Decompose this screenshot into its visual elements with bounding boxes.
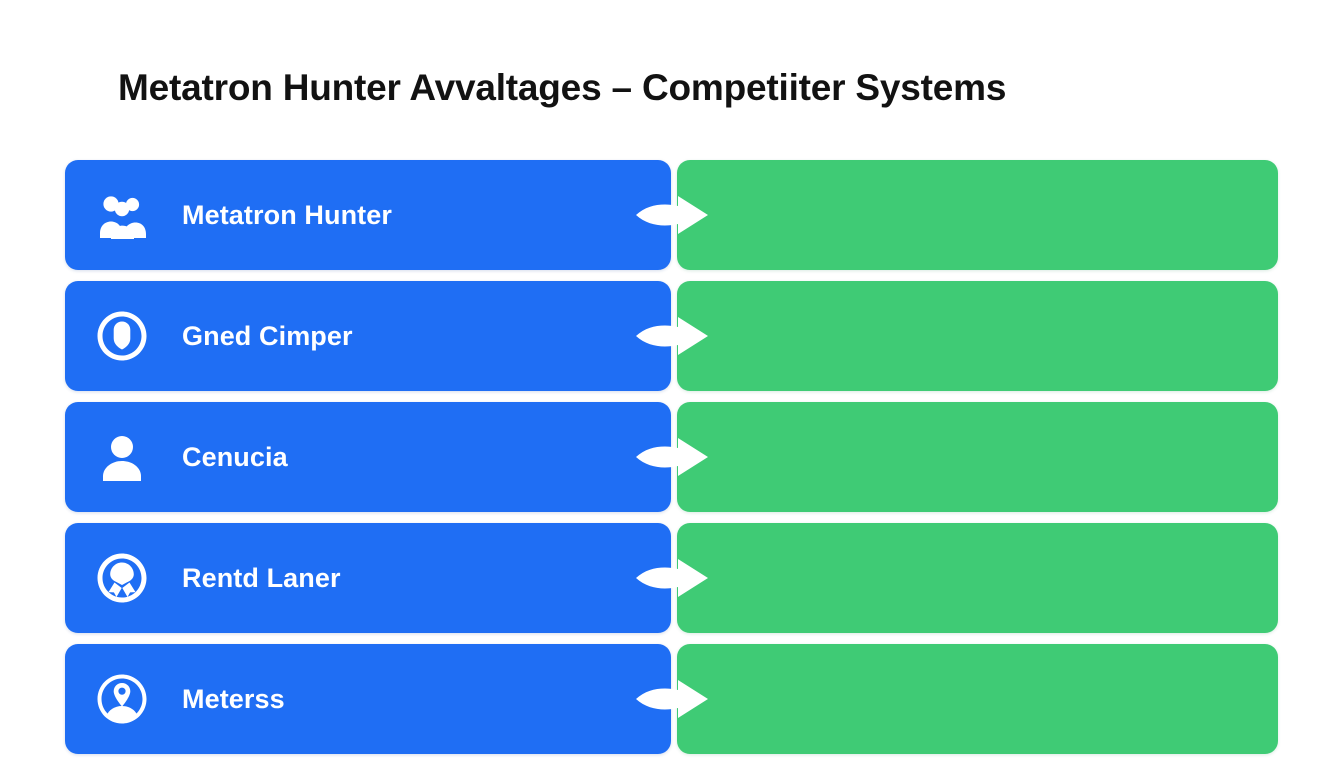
row-right-panel[interactable]: [677, 160, 1278, 270]
row-left-label: Meterss: [182, 684, 285, 715]
shield-badge-circle-icon: [96, 310, 148, 362]
comparison-rows: Metatron Hunter Gned Cimper: [0, 160, 1344, 765]
row-right-panel[interactable]: [677, 523, 1278, 633]
row-left-panel[interactable]: Rentd Laner: [65, 523, 671, 633]
comparison-row: Metatron Hunter: [0, 160, 1344, 270]
page-title: Metatron Hunter Avvaltages – Competiiter…: [118, 60, 1238, 116]
row-left-label: Cenucia: [182, 442, 288, 473]
row-left-panel[interactable]: Meterss: [65, 644, 671, 754]
row-left-label: Metatron Hunter: [182, 200, 392, 231]
row-left-panel[interactable]: Gned Cimper: [65, 281, 671, 391]
row-left-panel[interactable]: Metatron Hunter: [65, 160, 671, 270]
row-left-label: Gned Cimper: [182, 321, 353, 352]
row-left-panel[interactable]: Cenucia: [65, 402, 671, 512]
comparison-row: Cenucia: [0, 402, 1344, 512]
ribbon-award-circle-icon: [96, 552, 148, 604]
comparison-row: Rentd Laner: [0, 523, 1344, 633]
diagram-canvas: Metatron Hunter Avvaltages – Competiiter…: [0, 0, 1344, 768]
row-right-panel[interactable]: [677, 402, 1278, 512]
people-group-icon: [96, 189, 148, 241]
row-right-panel[interactable]: [677, 281, 1278, 391]
comparison-row: Meterss: [0, 644, 1344, 754]
row-left-label: Rentd Laner: [182, 563, 341, 594]
person-location-pin-icon: [96, 673, 148, 725]
comparison-row: Gned Cimper: [0, 281, 1344, 391]
person-icon: [96, 431, 148, 483]
row-right-panel[interactable]: [677, 644, 1278, 754]
